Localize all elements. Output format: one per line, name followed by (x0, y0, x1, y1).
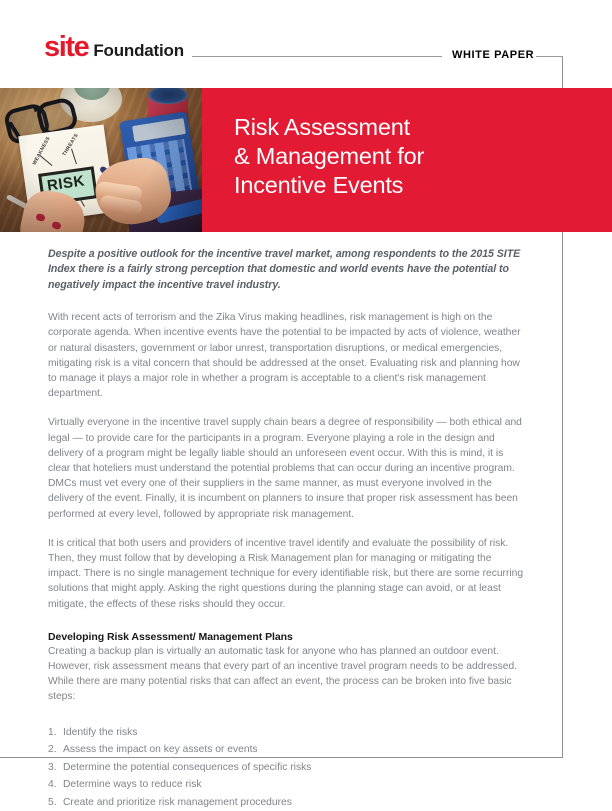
page-header: site Foundation WHITE PAPER (0, 0, 612, 88)
site-foundation-logo: site Foundation (44, 33, 184, 62)
section-paragraph: Creating a backup plan is virtually an a… (48, 644, 524, 705)
hero-photo: WEAKNESS THREATS TREAT RISK (0, 88, 202, 232)
body-paragraph-2: Virtually everyone in the incentive trav… (48, 415, 524, 521)
lede-paragraph: Despite a positive outlook for the incen… (48, 247, 524, 293)
list-item-text: Create and prioritize risk management pr… (63, 794, 292, 811)
header-rule-right (536, 56, 563, 57)
hero-red-panel: Risk Assessment & Management for Incenti… (202, 88, 612, 232)
page-title: Risk Assessment & Management for Incenti… (234, 113, 424, 200)
logo-wordmark-foundation: Foundation (93, 42, 184, 59)
list-item: 1. Identify the risks (48, 724, 524, 742)
risk-steps-list: 1. Identify the risks 2. Assess the impa… (48, 724, 524, 811)
list-item-text: Determine ways to reduce risk (63, 776, 202, 794)
body-paragraph-3: It is critical that both users and provi… (48, 536, 524, 612)
document-type-label: WHITE PAPER (452, 49, 534, 61)
body-paragraph-1: With recent acts of terrorism and the Zi… (48, 310, 524, 401)
photo-vignette (0, 88, 202, 232)
header-rule-left (192, 56, 442, 57)
list-item-number: 5. (48, 794, 63, 811)
list-item-number: 1. (48, 724, 63, 742)
page-frame-bottom-rule (0, 757, 563, 758)
list-item-text: Determine the potential consequences of … (63, 759, 311, 777)
list-item-text: Identify the risks (63, 724, 137, 742)
logo-wordmark-site: site (44, 33, 88, 62)
list-item-number: 3. (48, 759, 63, 777)
hero-banner: WEAKNESS THREATS TREAT RISK Risk Assessm… (0, 88, 612, 232)
list-item-number: 4. (48, 776, 63, 794)
document-body: Despite a positive outlook for the incen… (48, 247, 524, 811)
list-item: 3. Determine the potential consequences … (48, 759, 524, 777)
section-heading: Developing Risk Assessment/ Management P… (48, 631, 524, 643)
list-item: 5. Create and prioritize risk management… (48, 794, 524, 811)
list-item: 4. Determine ways to reduce risk (48, 776, 524, 794)
